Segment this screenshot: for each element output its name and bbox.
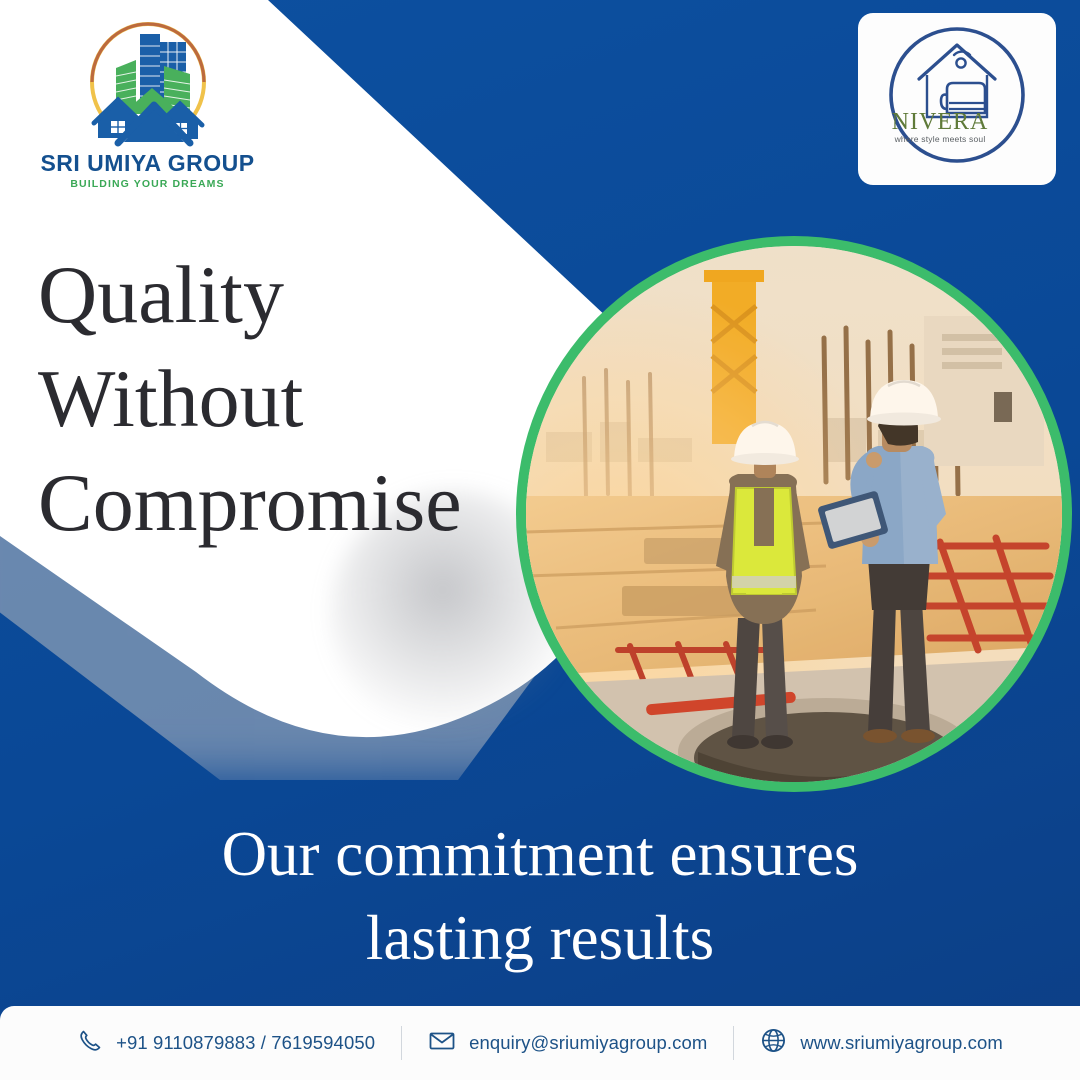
brand-logo[interactable]: SRI UMIYA GROUP BUILDING YOUR DREAMS bbox=[30, 22, 265, 192]
headline-line-3: Compromise bbox=[38, 451, 558, 555]
contact-phone[interactable]: +91 9110879883 / 7619594050 bbox=[51, 1028, 401, 1059]
house-sofa-logo-icon bbox=[875, 17, 1039, 181]
email-icon bbox=[428, 1028, 456, 1059]
subheading-line-1: Our commitment ensures bbox=[0, 812, 1080, 896]
contact-phone-text: +91 9110879883 / 7619594050 bbox=[116, 1032, 375, 1054]
poster-canvas: SRI UMIYA GROUP BUILDING YOUR DREAMS NIV… bbox=[0, 0, 1080, 1080]
subheading-line-2: lasting results bbox=[0, 896, 1080, 980]
contact-website-text: www.sriumiyagroup.com bbox=[800, 1032, 1003, 1054]
brand-name: SRI UMIYA GROUP bbox=[30, 150, 265, 177]
construction-photo bbox=[526, 246, 1062, 782]
brand-tagline: BUILDING YOUR DREAMS bbox=[30, 178, 265, 190]
contact-website[interactable]: www.sriumiyagroup.com bbox=[734, 1027, 1029, 1059]
headline-line-2: Without bbox=[38, 347, 558, 451]
contact-email[interactable]: enquiry@sriumiyagroup.com bbox=[402, 1028, 733, 1059]
phone-icon bbox=[77, 1028, 103, 1059]
subheading: Our commitment ensures lasting results bbox=[0, 812, 1080, 980]
globe-icon bbox=[760, 1027, 787, 1059]
photo-ring bbox=[516, 236, 1072, 792]
building-house-logo-icon bbox=[78, 22, 218, 150]
headline: Quality Without Compromise bbox=[38, 243, 558, 555]
contact-footer: +91 9110879883 / 7619594050 enquiry@sriu… bbox=[0, 1006, 1080, 1080]
partner-tagline: where style meets soul bbox=[858, 134, 1022, 144]
partner-logo-card[interactable]: NIVERA where style meets soul bbox=[858, 13, 1056, 185]
partner-name: NIVERA bbox=[858, 109, 1022, 136]
contact-email-text: enquiry@sriumiyagroup.com bbox=[469, 1032, 707, 1054]
headline-line-1: Quality bbox=[38, 243, 558, 347]
